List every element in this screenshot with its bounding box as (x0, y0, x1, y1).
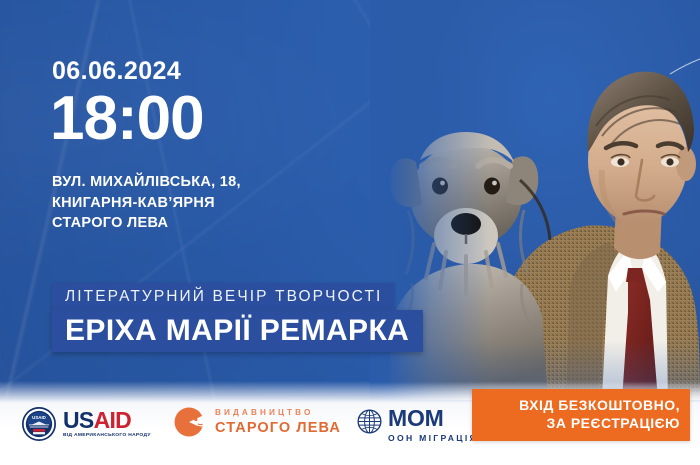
svg-text:USAID: USAID (32, 415, 46, 420)
badge-line-2: ЗА РЕЄСТРАЦІЄЮ (482, 414, 680, 432)
publisher-line-1: ВИДАВНИЦТВО (215, 409, 341, 417)
iom-word: МОМ (388, 407, 478, 430)
lion-head-icon (172, 405, 206, 439)
event-time: 18:00 (50, 88, 204, 150)
usaid-word-us: US (63, 407, 94, 433)
iom-tagline: ООН МІГРАЦІЯ (388, 434, 478, 443)
title-kicker-bar: ЛІТЕРАТУРНИЙ ВЕЧІР ТВОРЧОСТІ (52, 283, 394, 310)
badge-line-1: ВХІД БЕЗКОШТОВНО, (482, 396, 680, 414)
event-venue: ВУЛ. МИХАЙЛІВСЬКА, 18, КНИГАРНЯ-КАВ’ЯРНЯ… (52, 172, 241, 234)
usaid-logo: USAID USAID ВІД АМЕРИКАНСЬКОГО НАРОДУ (22, 407, 151, 441)
event-date: 06.06.2024 (52, 57, 181, 86)
usaid-word: USAID (63, 409, 151, 432)
usaid-seal-icon: USAID (22, 407, 56, 441)
venue-line-3: СТАРОГО ЛЕВА (52, 213, 241, 234)
usaid-word-aid: AID (94, 407, 132, 433)
globe-icon (356, 408, 383, 435)
iom-logo: МОМ ООН МІГРАЦІЯ (356, 407, 478, 443)
venue-line-1: ВУЛ. МИХАЙЛІВСЬКА, 18, (52, 172, 241, 193)
publisher-wordmark: ВИДАВНИЦТВО СТАРОГО ЛЕВА (215, 409, 341, 436)
event-poster: 06.06.2024 18:00 ВУЛ. МИХАЙЛІВСЬКА, 18, … (0, 0, 700, 465)
iom-wordmark: МОМ ООН МІГРАЦІЯ (388, 407, 478, 443)
publisher-line-2: СТАРОГО ЛЕВА (215, 421, 341, 436)
publisher-logo: ВИДАВНИЦТВО СТАРОГО ЛЕВА (172, 405, 341, 439)
title-main: ЕРІХА МАРІЇ РЕМАРКА (65, 314, 409, 348)
title-main-bar: ЕРІХА МАРІЇ РЕМАРКА (52, 310, 423, 352)
usaid-tagline: ВІД АМЕРИКАНСЬКОГО НАРОДУ (63, 434, 151, 439)
free-entry-badge: ВХІД БЕЗКОШТОВНО, ЗА РЕЄСТРАЦІЄЮ (472, 389, 690, 441)
title-kicker: ЛІТЕРАТУРНИЙ ВЕЧІР ТВОРЧОСТІ (65, 288, 382, 306)
venue-line-2: КНИГАРНЯ-КАВ’ЯРНЯ (52, 193, 241, 214)
usaid-wordmark: USAID ВІД АМЕРИКАНСЬКОГО НАРОДУ (63, 409, 151, 439)
